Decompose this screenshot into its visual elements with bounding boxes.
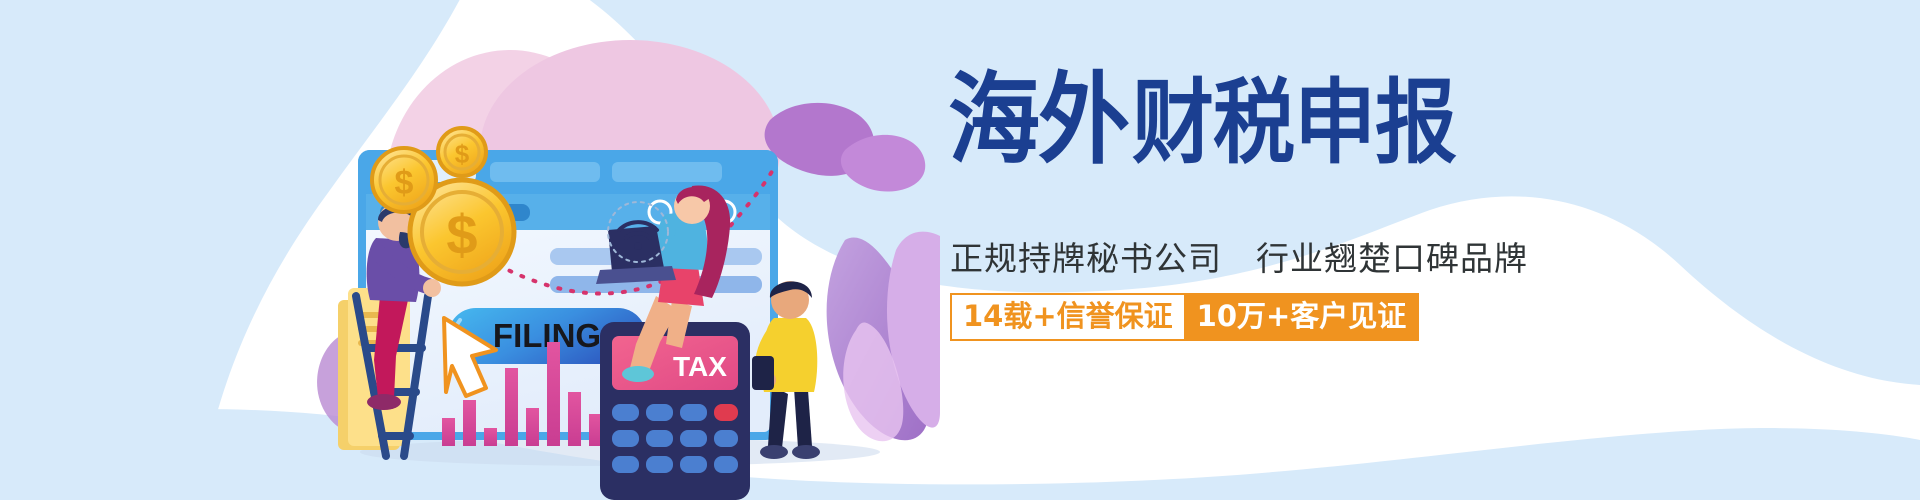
browser-tab (612, 162, 722, 182)
browser-tab (490, 162, 600, 182)
promo-banner: FILING (0, 0, 1920, 500)
coin-symbol: $ (455, 139, 470, 169)
calculator: TAX (600, 322, 750, 500)
headline-part-1: 海外 (948, 71, 1128, 170)
coin-symbol: $ (395, 164, 414, 202)
hero-illustration: FILING (300, 0, 940, 500)
calc-key (680, 404, 707, 421)
calc-key (680, 430, 707, 447)
calc-key (646, 404, 673, 421)
coin-small: $ (438, 128, 486, 176)
calc-key (646, 456, 673, 473)
phone-device (752, 356, 774, 390)
status-badge-tenure: 14载+信誉保证 (950, 293, 1184, 341)
hand (423, 279, 441, 297)
calc-key (714, 456, 738, 473)
calc-key (612, 430, 639, 447)
calc-key (680, 456, 707, 473)
subtitle: 正规持牌秘书公司 行业翘楚口碑品牌 (950, 232, 1528, 280)
calculator-label: TAX (673, 351, 727, 382)
coin-medium: $ (372, 148, 436, 212)
headline-part-2: 财税申报 (1132, 78, 1456, 170)
page-title: 海外财税申报 (948, 78, 1456, 170)
badge-group: 14载+信誉保证 10万+客户见证 (950, 293, 1419, 341)
calc-key (612, 404, 639, 421)
coin-symbol: $ (446, 203, 477, 266)
calc-key (646, 430, 673, 447)
copy-block: 海外财税申报 正规持牌秘书公司 行业翘楚口碑品牌 14载+信誉保证 10万+客户… (948, 60, 1848, 400)
status-badge-clients: 10万+客户见证 (1184, 293, 1420, 341)
calc-key (612, 456, 639, 473)
calc-key (714, 404, 738, 421)
calc-key (714, 430, 738, 447)
